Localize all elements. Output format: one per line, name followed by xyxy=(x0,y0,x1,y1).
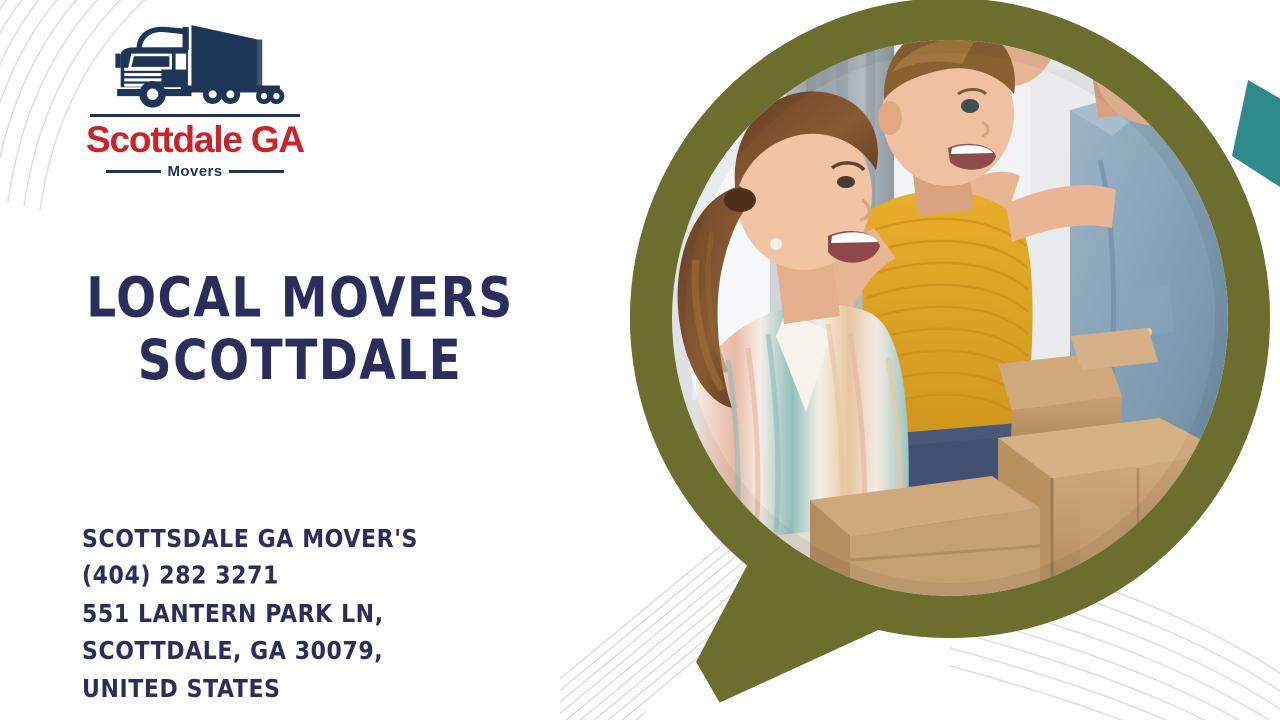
promotional-banner: Scottdale GA Movers LOCAL MOVERS SCOTTDA… xyxy=(0,0,1280,720)
curve-line-decoration-bottom-right xyxy=(950,500,1280,720)
logo-subtitle-line-right xyxy=(229,170,284,173)
semi-truck-icon xyxy=(105,20,285,112)
headline: LOCAL MOVERS SCOTTDALE xyxy=(0,268,600,392)
contact-info-block: SCOTTSDALE GA MOVER'S (404) 282 3271 551… xyxy=(82,521,418,708)
contact-address-line-1: 551 LANTERN PARK LN, xyxy=(82,596,418,633)
person-mother xyxy=(678,91,909,544)
logo-subtitle-line-left xyxy=(106,170,161,173)
contact-phone[interactable]: (404) 282 3271 xyxy=(82,558,418,595)
headline-line-2: SCOTTDALE xyxy=(0,330,600,392)
teal-accent-shape xyxy=(1232,80,1280,200)
headline-line-1: LOCAL MOVERS xyxy=(0,268,600,330)
diagonal-line-decoration-bottom-left xyxy=(560,500,920,720)
logo-company-name: Scottdale GA xyxy=(70,121,320,160)
olive-ring xyxy=(610,0,1270,720)
moving-boxes xyxy=(810,328,1228,606)
person-boy xyxy=(818,24,1116,532)
hero-photo-with-olive-ring xyxy=(600,0,1280,720)
person-father xyxy=(980,0,1248,535)
logo-divider-rule xyxy=(90,114,300,117)
company-logo[interactable]: Scottdale GA Movers xyxy=(70,20,320,180)
logo-subtitle: Movers xyxy=(168,163,223,180)
contact-address-line-3: UNITED STATES xyxy=(82,671,418,708)
contact-business-name: SCOTTSDALE GA MOVER'S xyxy=(82,521,418,558)
contact-address-line-2: SCOTTDALE, GA 30079, xyxy=(82,633,418,670)
logo-subtitle-row: Movers xyxy=(70,163,320,180)
family-photo xyxy=(672,0,1248,606)
